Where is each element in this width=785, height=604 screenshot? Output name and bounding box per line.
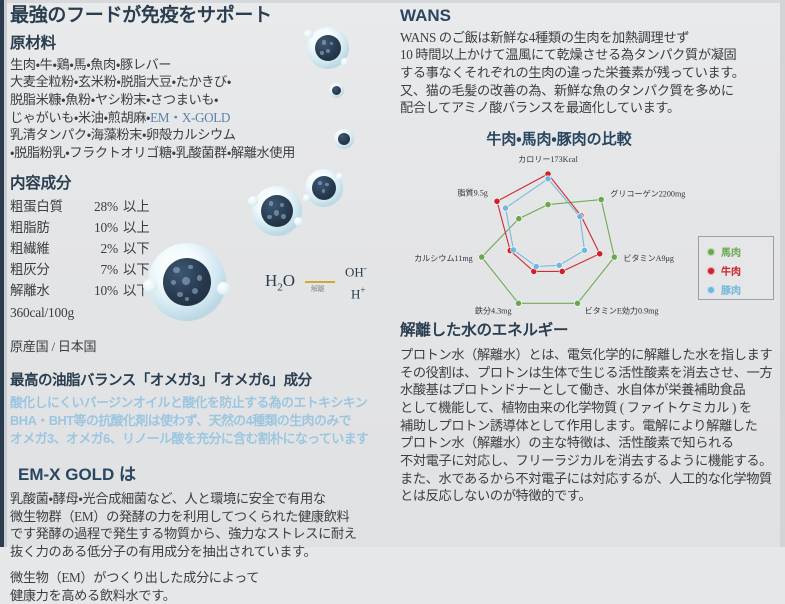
h2o-reactant: H2O bbox=[265, 271, 295, 293]
radar-point bbox=[574, 300, 580, 306]
right-border bbox=[780, 0, 785, 547]
radar-point bbox=[516, 216, 522, 222]
composition-row: 粗脂肪10%以上 bbox=[10, 217, 395, 238]
radar-point bbox=[545, 176, 551, 182]
radar-axis-label: ビタミンE効力0.9mg bbox=[585, 305, 659, 315]
water-line-2: その役割は、プロトンは生体で生じる活性酸素を消去させ、一方 bbox=[400, 364, 778, 382]
radar-axis-label: ビタミンA9μg bbox=[623, 254, 674, 263]
legend-marker-icon bbox=[707, 248, 715, 256]
right-column: WANS WANS のご飯は新鮮な4種類の生肉を加熱調理せず 10 時間以上かけ… bbox=[400, 6, 778, 541]
left-border-light bbox=[4, 0, 7, 547]
composition-row-qualifier: 以下 bbox=[123, 241, 149, 256]
origin-country: 原産国 / 日本国 bbox=[10, 336, 395, 355]
cell-illustration-dot-2 bbox=[334, 129, 354, 149]
composition-row-qualifier: 以上 bbox=[123, 199, 149, 214]
radar-point bbox=[494, 198, 500, 204]
radar-axis-label: カロリー173Kcal bbox=[518, 155, 579, 164]
cell-illustration-bottom bbox=[305, 169, 343, 207]
page-root: 最強のフードが免疫をサポート 原材料 生肉・牛・鶏・馬・魚肉・豚レバー 大麦全粒… bbox=[0, 0, 785, 547]
omega-heading: 最高の油脂バランス「オメガ3」「オメガ6」成分 bbox=[10, 373, 395, 390]
emx-p2-line-1: 微生物（EM）がつくり出した成分によって bbox=[10, 569, 395, 587]
legend-label: 牛肉 bbox=[721, 263, 741, 278]
radar-point bbox=[597, 251, 603, 257]
water-line-6: プロトン水（解離水）の主な特徴は、活性酸素で知られる bbox=[400, 434, 778, 452]
emx-p1-line-4: 抜く力のある低分子の有用成分を抽出されています。 bbox=[10, 543, 395, 561]
radar-point bbox=[502, 205, 508, 211]
page-title: 最強のフードが免疫をサポート bbox=[10, 6, 395, 27]
water-line-5: 補助しプロトン誘導体として作用します。電解により解離した bbox=[400, 417, 778, 435]
composition-row-value: 28% bbox=[72, 196, 118, 217]
composition-row-value: 10% bbox=[72, 280, 118, 301]
radar-series-1 bbox=[494, 171, 603, 275]
composition-row-qualifier: 以上 bbox=[123, 220, 149, 235]
radar-point bbox=[581, 247, 587, 253]
emx-paragraph-1: 乳酸菌・酵母・光合成細菌など、人と環境に安全で有用な 微生物群（EM）の発酵の力… bbox=[10, 490, 395, 561]
radar-series-0 bbox=[479, 197, 618, 307]
radar-axis-label: カルシウム11mg bbox=[414, 254, 473, 263]
composition-row-value: 2% bbox=[72, 238, 118, 259]
top-border bbox=[0, 0, 785, 3]
composition-row-label: 粗蛋白質 bbox=[10, 196, 72, 217]
wans-line-4: 又、猫の毛髪の改善の為、新鮮な魚のタンパク質を多めに bbox=[400, 82, 778, 100]
emx-p1-line-3: です発酵の過程で発生する物質から、強力なストレスに耐え bbox=[10, 525, 395, 543]
ingredients-line-3-text: じゃがいも・米油・煎胡麻・ bbox=[10, 110, 150, 125]
radar-point bbox=[533, 263, 539, 269]
ingredients-emx-label: EM・X-GOLD bbox=[150, 110, 230, 125]
wans-line-3: する事なくそれぞれの生肉の違った栄養素が残っています。 bbox=[400, 64, 778, 82]
radar-point bbox=[556, 262, 562, 268]
radar-axis-label: 鉄分4.3mg bbox=[475, 305, 512, 315]
comparison-heading: 牛肉・馬肉・豚肉の比較 bbox=[400, 131, 718, 149]
water-heading: 解離した水のエネルギー bbox=[400, 322, 778, 340]
ingredients-line-3: じゃがいも・米油・煎胡麻・EM・X-GOLD bbox=[10, 109, 395, 127]
wans-line-1: WANS のご飯は新鮮な4種類の生肉を加熱調理せず bbox=[400, 29, 778, 47]
radar-point bbox=[479, 254, 485, 260]
radar-point bbox=[611, 254, 617, 260]
emx-heading: EM-X GOLD は bbox=[18, 465, 395, 485]
cell-illustration-dot-1 bbox=[329, 83, 344, 98]
dissociation-label: 解離 bbox=[311, 284, 324, 294]
water-line-3: 水酸基はプロトンドナーとして働き、水自体が栄養補助食品 bbox=[400, 381, 778, 399]
water-line-8: また、水であるから不対電子には対応するが、人工的な化学物質 bbox=[400, 470, 778, 488]
omega-line-2: BHA・BHT等の抗酸化剤は使わず、天然の4種類の生肉のみで bbox=[10, 412, 395, 430]
emx-p1-line-1: 乳酸菌・酵母・光合成細菌など、人と環境に安全で有用な bbox=[10, 490, 395, 508]
omega-line-1: 酸化しにくいバージンオイルと酸化を防止する為のエトキシキン bbox=[10, 394, 395, 412]
cell-illustration-top bbox=[307, 27, 349, 69]
legend-marker-icon bbox=[707, 286, 715, 294]
radar-point bbox=[559, 268, 565, 274]
water-section: 解離した水のエネルギー プロトン水（解離水）とは、電気化学的に解離した水を指しま… bbox=[400, 322, 778, 505]
legend-item[interactable]: 豚肉 bbox=[707, 280, 773, 299]
cell-illustration-medium bbox=[252, 186, 302, 236]
proton-product: H+ bbox=[351, 285, 365, 302]
radar-point bbox=[545, 202, 551, 208]
wans-heading: WANS bbox=[400, 6, 778, 26]
hydroxide-product: OH- bbox=[345, 263, 367, 280]
composition-row-value: 10% bbox=[72, 217, 118, 238]
water-line-4: として機能して、植物由来の化学物質 ( ファイトケミカル ) を bbox=[400, 399, 778, 417]
legend-label: 馬肉 bbox=[721, 244, 741, 259]
meat-comparison-radar-chart: カロリー173Kcalグリコーゲン2200mgビタミンA9μgビタミンE効力0.… bbox=[400, 154, 778, 329]
radar-point bbox=[510, 247, 516, 253]
wans-line-5: 配合してアミノ酸バランスを最適化しています。 bbox=[400, 99, 778, 117]
composition-row-label: 粗灰分 bbox=[10, 259, 72, 280]
dissociation-arrow bbox=[305, 281, 335, 283]
legend-item[interactable]: 牛肉 bbox=[707, 261, 773, 280]
water-line-7: 不対電子に対応し、フリーラジカルを消去するように機能する。 bbox=[400, 452, 778, 470]
chart-legend: 馬肉牛肉豚肉 bbox=[698, 236, 774, 300]
wans-line-2: 10 時間以上かけて温風にて乾燥させる為タンパク質が凝固 bbox=[400, 46, 778, 64]
composition-row-value: 7% bbox=[72, 259, 118, 280]
legend-label: 豚肉 bbox=[721, 282, 741, 297]
legend-item[interactable]: 馬肉 bbox=[707, 242, 773, 261]
composition-row-qualifier: 以下 bbox=[123, 262, 149, 277]
radar-point bbox=[515, 300, 521, 306]
cell-illustration-large bbox=[148, 243, 226, 321]
emx-p1-line-2: 微生物群（EM）の発酵の力を利用してつくられた健康飲料 bbox=[10, 508, 395, 526]
emx-paragraph-2: 微生物（EM）がつくり出した成分によって 健康力を高める飲料水です。 bbox=[10, 569, 395, 604]
radar-axis-label: 脂質9.5g bbox=[457, 188, 487, 198]
composition-row-label: 解離水 bbox=[10, 280, 72, 301]
wans-body: WANS のご飯は新鮮な4種類の生肉を加熱調理せず 10 時間以上かけて温風にて… bbox=[400, 29, 778, 117]
omega-body: 酸化しにくいバージンオイルと酸化を防止する為のエトキシキン BHA・BHT等の抗… bbox=[10, 394, 395, 448]
radar-axis-label: グリコーゲン2200mg bbox=[610, 189, 685, 199]
legend-marker-icon bbox=[707, 267, 715, 275]
water-body: プロトン水（解離水）とは、電気化学的に解離した水を指します その役割は、プロトン… bbox=[400, 346, 778, 505]
radar-point bbox=[598, 197, 604, 203]
omega-line-3: オメガ3、オメガ6、リノール酸を充分に含む割朴になっています bbox=[10, 430, 395, 448]
water-line-1: プロトン水（解離水）とは、電気化学的に解離した水を指します bbox=[400, 346, 778, 364]
emx-p2-line-2: 健康力を高める飲料水です。 bbox=[10, 587, 395, 604]
water-line-9: とは反応しないのが特徴的です。 bbox=[400, 487, 778, 505]
composition-row-label: 粗脂肪 bbox=[10, 217, 72, 238]
radar-point bbox=[577, 214, 583, 220]
composition-row-label: 粗繊維 bbox=[10, 238, 72, 259]
